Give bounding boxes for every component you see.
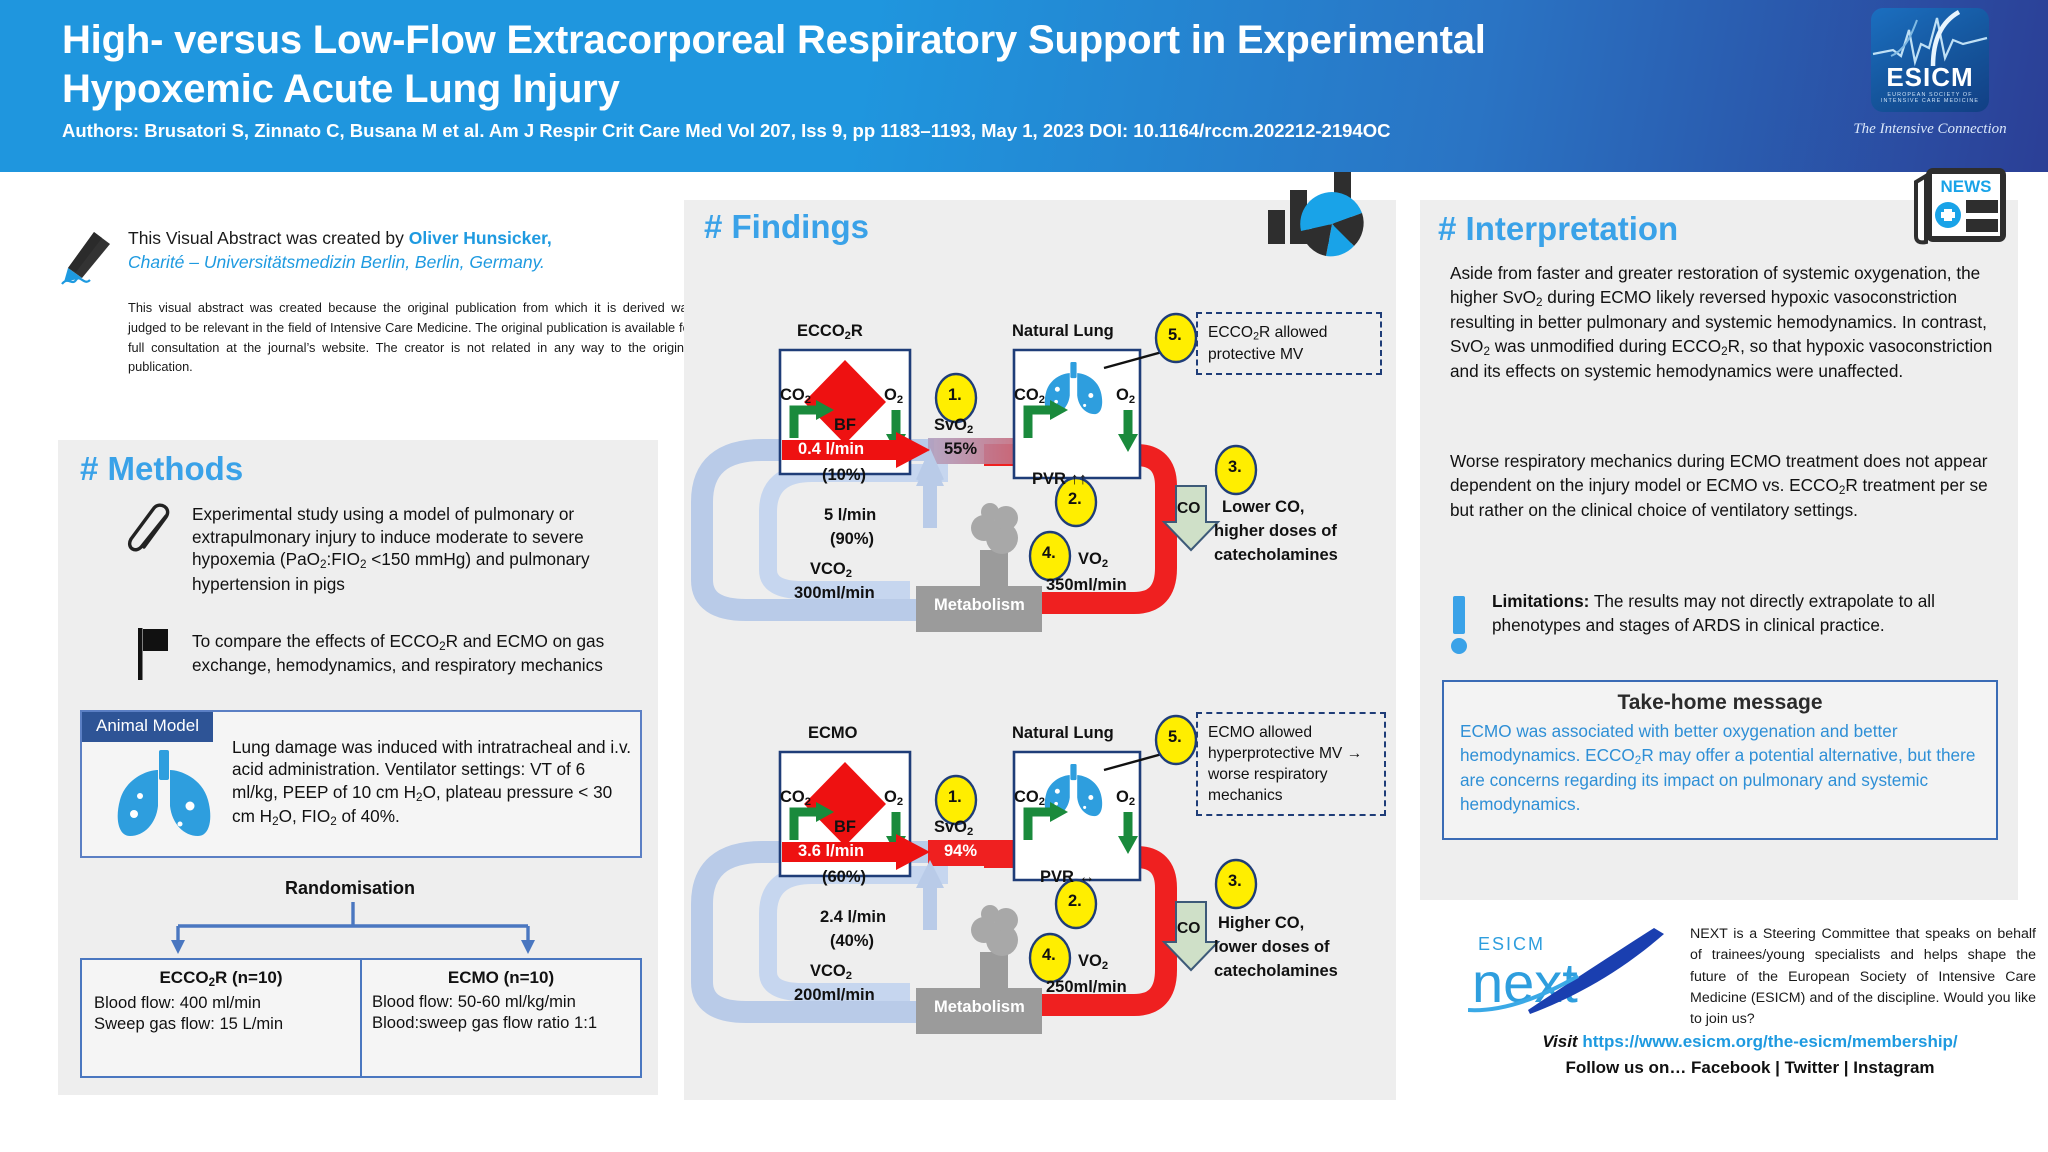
findings-heading: # Findings bbox=[704, 208, 869, 246]
newspaper-icon: NEWS bbox=[1908, 162, 2012, 254]
animal-model-tag: Animal Model bbox=[82, 712, 213, 742]
esicm-tagline: The Intensive Connection bbox=[1853, 121, 2006, 138]
esicm-logo: ESICM EUROPEAN SOCIETY OF INTENSIVE CARE… bbox=[1840, 8, 2020, 160]
vco2-label-1: VCO2 bbox=[810, 560, 852, 580]
callout-2: ECMO allowed hyperprotective MV → worse … bbox=[1196, 712, 1386, 816]
return-percent-2: (40%) bbox=[830, 932, 874, 951]
take-home-title: Take-home message bbox=[1460, 691, 1980, 715]
methods-item-2: To compare the effects of ECCO2R and ECM… bbox=[192, 630, 652, 677]
esicm-subtitle: EUROPEAN SOCIETY OF INTENSIVE CARE MEDIC… bbox=[1871, 92, 1989, 106]
authors-citation: Authors: Brusatori S, Zinnato C, Busana … bbox=[62, 120, 1762, 142]
co-arrow-label-1: CO bbox=[1177, 500, 1200, 518]
bf-value-2: 3.6 l/min bbox=[798, 842, 864, 861]
title-line-1: High- versus Low-Flow Extracorporeal Res… bbox=[62, 16, 1702, 65]
credit-affiliation: Charité – Universitätsmedizin Berlin, Be… bbox=[128, 250, 688, 274]
limitations-text: Limitations: The results may not directl… bbox=[1492, 590, 1992, 637]
marker-1-1: 1. bbox=[948, 386, 962, 405]
esicm-badge: ESICM EUROPEAN SOCIETY OF INTENSIVE CARE… bbox=[1871, 8, 1989, 112]
marker-2-5: 5. bbox=[1168, 728, 1182, 747]
pvr-label-2: PVR ↔ bbox=[1040, 868, 1095, 887]
marker-1-4: 4. bbox=[1042, 544, 1056, 563]
follow-line: Follow us on… Facebook | Twitter | Insta… bbox=[1460, 1058, 2040, 1078]
marker-2-4: 4. bbox=[1042, 946, 1056, 965]
device-label-1: ECCO2R bbox=[797, 322, 863, 342]
co-text-1a: Lower CO, bbox=[1222, 498, 1305, 517]
vco2-label-2: VCO2 bbox=[810, 962, 852, 982]
svg-text:NEWS: NEWS bbox=[1941, 177, 1992, 196]
visit-line: Visit https://www.esicm.org/the-esicm/me… bbox=[1460, 1032, 2040, 1052]
bf-label-2: BF bbox=[834, 818, 856, 837]
device-co2-label-2: CO2 bbox=[780, 788, 811, 808]
group-2-line-1: Blood flow: 50-60 ml/kg/min bbox=[368, 991, 634, 1012]
device-o2-label-1: O2 bbox=[884, 386, 903, 406]
pvr-label-1: PVR ↑↑ bbox=[1032, 470, 1087, 489]
findings-diagram-ecco2r: ECCO2R Natural Lung CO2 O2 CO2 O2 BF 0.4… bbox=[684, 250, 1396, 650]
lung-o2-label-2: O2 bbox=[1116, 788, 1135, 808]
lung-label-2: Natural Lung bbox=[1012, 724, 1114, 743]
vco2-value-1: 300ml/min bbox=[794, 584, 875, 603]
methods-heading: # Methods bbox=[80, 450, 243, 488]
device-label-2: ECMO bbox=[808, 724, 858, 743]
metabolism-label-2: Metabolism bbox=[934, 998, 1025, 1017]
co-text-1b: higher doses of bbox=[1214, 522, 1337, 541]
co-arrow-label-2: CO bbox=[1177, 920, 1200, 938]
membership-link[interactable]: https://www.esicm.org/the-esicm/membersh… bbox=[1582, 1032, 1957, 1051]
marker-2-1: 1. bbox=[948, 788, 962, 807]
findings-diagram-ecmo: ECMO Natural Lung CO2 O2 CO2 O2 BF 3.6 l… bbox=[684, 652, 1396, 1052]
marker-1-5: 5. bbox=[1168, 326, 1182, 345]
co-text-1c: catecholamines bbox=[1214, 546, 1338, 565]
limitations-label: Limitations: bbox=[1492, 591, 1589, 611]
page-title: High- versus Low-Flow Extracorporeal Res… bbox=[62, 16, 1702, 114]
title-line-2: Hypoxemic Acute Lung Injury bbox=[62, 65, 1702, 114]
disclaimer-text: This visual abstract was created because… bbox=[128, 298, 694, 377]
group-ecmo: ECMO (n=10) Blood flow: 50-60 ml/kg/min … bbox=[360, 960, 640, 1076]
methods-item-1: Experimental study using a model of pulm… bbox=[192, 503, 642, 595]
svo2-value-2: 94% bbox=[944, 842, 977, 861]
group-2-title: ECMO (n=10) bbox=[368, 968, 634, 988]
bf-label-1: BF bbox=[834, 416, 856, 435]
return-flow-1: 5 l/min bbox=[824, 506, 876, 525]
svo2-label-1: SvO2 bbox=[934, 416, 973, 436]
ecg-waveform-icon bbox=[1871, 10, 1989, 72]
device-o2-label-2: O2 bbox=[884, 788, 903, 808]
lung-co2-label-1: CO2 bbox=[1014, 386, 1045, 406]
marker-2-2: 2. bbox=[1068, 892, 1082, 911]
exclamation-icon bbox=[1448, 594, 1470, 656]
interpretation-heading: # Interpretation bbox=[1438, 210, 1678, 248]
animal-model-text: Lung damage was induced with intratrache… bbox=[232, 736, 632, 829]
metabolism-label-1: Metabolism bbox=[934, 596, 1025, 615]
interpretation-paragraph-1: Aside from faster and greater restoratio… bbox=[1450, 262, 1996, 383]
bf-percent-1: (10%) bbox=[822, 466, 866, 485]
group-1-line-2: Sweep gas flow: 15 L/min bbox=[88, 1013, 354, 1034]
take-home-body: ECMO was associated with better oxygenat… bbox=[1460, 720, 1980, 816]
svo2-value-1: 55% bbox=[944, 440, 977, 459]
marker-1-2: 2. bbox=[1068, 490, 1082, 509]
group-eccor: ECCO2R (n=10) Blood flow: 400 ml/min Swe… bbox=[82, 960, 360, 1076]
credit-author: Oliver Hunsicker, bbox=[409, 228, 552, 248]
take-home-box: Take-home message ECMO was associated wi… bbox=[1442, 680, 1998, 840]
return-flow-2: 2.4 l/min bbox=[820, 908, 886, 927]
paperclip-icon bbox=[124, 502, 178, 562]
svo2-label-2: SvO2 bbox=[934, 818, 973, 838]
methods-panel: # Methods Experimental study using a mod… bbox=[58, 440, 658, 1095]
group-2-line-2: Blood:sweep gas flow ratio 1:1 bbox=[368, 1012, 634, 1033]
lungs-icon bbox=[110, 746, 218, 842]
callout-1: ECCO2R allowed protective MV bbox=[1196, 312, 1382, 375]
esicm-next-block: ESICM next NEXT is a Steering Committee … bbox=[1468, 920, 2038, 1100]
esicm-next-description: NEXT is a Steering Committee that speaks… bbox=[1690, 924, 2036, 1030]
pen-signature-icon bbox=[58, 230, 114, 292]
return-percent-1: (90%) bbox=[830, 530, 874, 549]
bf-percent-2: (60%) bbox=[822, 868, 866, 887]
visit-label: Visit bbox=[1542, 1032, 1582, 1051]
marker-2-3: 3. bbox=[1228, 872, 1242, 891]
circulation-schematic-1 bbox=[684, 250, 1396, 650]
randomisation-label: Randomisation bbox=[58, 878, 642, 899]
marker-1-3: 3. bbox=[1228, 458, 1242, 477]
randomisation-arrows bbox=[148, 902, 558, 958]
flag-icon bbox=[134, 626, 176, 682]
co-text-2b: lower doses of bbox=[1214, 938, 1330, 957]
interpretation-panel: # Interpretation NEWS Aside from faster … bbox=[1420, 200, 2018, 900]
group-1-line-1: Blood flow: 400 ml/min bbox=[88, 992, 354, 1013]
co-text-2a: Higher CO, bbox=[1218, 914, 1304, 933]
group-1-title: ECCO2R (n=10) bbox=[88, 968, 354, 989]
vo2-label-1: VO2 bbox=[1078, 550, 1108, 570]
vco2-value-2: 200ml/min bbox=[794, 986, 875, 1005]
lung-co2-label-2: CO2 bbox=[1014, 788, 1045, 808]
esicm-next-logo: ESICM next bbox=[1468, 920, 1678, 1016]
lung-label-1: Natural Lung bbox=[1012, 322, 1114, 341]
co-text-2c: catecholamines bbox=[1214, 962, 1338, 981]
interpretation-paragraph-2: Worse respiratory mechanics during ECMO … bbox=[1450, 450, 1996, 523]
vo2-value-2: 250ml/min bbox=[1046, 978, 1127, 997]
findings-panel: # Findings bbox=[684, 200, 1396, 1100]
credit-prefix: This Visual Abstract was created by bbox=[128, 228, 409, 248]
lung-o2-label-1: O2 bbox=[1116, 386, 1135, 406]
chart-pie-bar-icon bbox=[1266, 166, 1378, 262]
credit-text: This Visual Abstract was created by Oliv… bbox=[128, 226, 688, 274]
page-header: High- versus Low-Flow Extracorporeal Res… bbox=[0, 0, 2048, 172]
animal-model-box: Animal Model Lung damage was induced wit… bbox=[80, 710, 642, 858]
randomisation-groups: ECCO2R (n=10) Blood flow: 400 ml/min Swe… bbox=[80, 958, 642, 1078]
device-co2-label-1: CO2 bbox=[780, 386, 811, 406]
vo2-value-1: 350ml/min bbox=[1046, 576, 1127, 595]
vo2-label-2: VO2 bbox=[1078, 952, 1108, 972]
bf-value-1: 0.4 l/min bbox=[798, 440, 864, 459]
